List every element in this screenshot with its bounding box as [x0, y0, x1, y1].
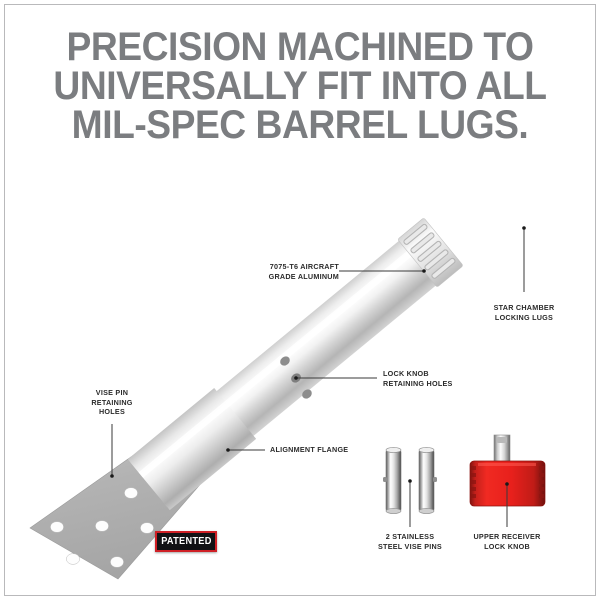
annotation-star-chamber-line-1: STAR CHAMBER: [472, 303, 577, 313]
patented-badge-label: PATENTED: [161, 536, 211, 547]
headline-line-1: PRECISION MACHINED TO: [21, 28, 579, 67]
annotation-aluminum-line-2: GRADE ALUMINUM: [244, 272, 339, 282]
annotation-aluminum-line-1: 7075-T6 AIRCRAFT: [244, 262, 339, 272]
patented-badge: PATENTED: [155, 531, 217, 552]
annotation-vise-pin-holes-line-3: HOLES: [65, 407, 160, 417]
annotation-aluminum: 7075-T6 AIRCRAFT GRADE ALUMINUM: [244, 262, 339, 281]
annotation-upper-receiver-lock-knob-line-1: UPPER RECEIVER: [453, 532, 561, 542]
annotation-lock-knob-holes-line-1: LOCK KNOB: [383, 369, 488, 379]
annotation-alignment-flange: ALIGNMENT FLANGE: [270, 445, 384, 455]
annotation-upper-receiver-lock-knob: UPPER RECEIVER LOCK KNOB: [453, 532, 561, 551]
annotation-vise-pin-holes-line-2: RETAINING: [65, 398, 160, 408]
annotation-vise-pin-holes: VISE PIN RETAINING HOLES: [65, 388, 160, 417]
annotation-lock-knob-holes-line-2: RETAINING HOLES: [383, 379, 488, 389]
annotation-upper-receiver-lock-knob-line-2: LOCK KNOB: [453, 542, 561, 552]
annotation-lock-knob-holes: LOCK KNOB RETAINING HOLES: [383, 369, 488, 388]
annotation-vise-pins-line-2: STEEL VISE PINS: [361, 542, 460, 552]
annotation-vise-pins: 2 STAINLESS STEEL VISE PINS: [361, 532, 460, 551]
annotation-vise-pins-line-1: 2 STAINLESS: [361, 532, 460, 542]
headline-line-3: MIL-SPEC BARREL LUGS.: [21, 106, 579, 145]
infographic-canvas: PRECISION MACHINED TO UNIVERSALLY FIT IN…: [0, 0, 600, 600]
headline: PRECISION MACHINED TO UNIVERSALLY FIT IN…: [21, 28, 579, 145]
annotation-alignment-flange-line-1: ALIGNMENT FLANGE: [270, 445, 384, 455]
annotation-vise-pin-holes-line-1: VISE PIN: [65, 388, 160, 398]
annotation-star-chamber: STAR CHAMBER LOCKING LUGS: [472, 303, 577, 322]
annotation-star-chamber-line-2: LOCKING LUGS: [472, 313, 577, 323]
headline-line-2: UNIVERSALLY FIT INTO ALL: [21, 67, 579, 106]
